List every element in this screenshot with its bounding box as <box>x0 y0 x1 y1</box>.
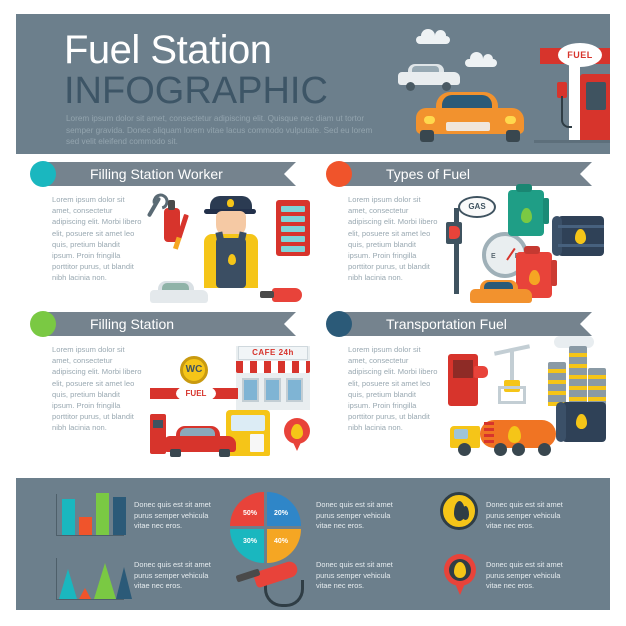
gauge-empty-label: E <box>491 253 496 260</box>
red-car-icon <box>164 424 236 456</box>
cloud-icon <box>416 36 450 44</box>
bar-chart-bar <box>62 499 75 535</box>
footer-item-text: Donec quis est sit amet purus semper veh… <box>134 560 226 592</box>
filling-station-illustration: CAFE 24h WC FUEL <box>150 340 312 458</box>
location-pin-icon <box>284 418 310 452</box>
cafe-building-icon: CAFE 24h <box>236 346 310 410</box>
section-title: Transportation Fuel <box>386 315 507 333</box>
area-chart-peak <box>59 569 77 599</box>
section-types-of-fuel: Types of Fuel Lorem ipsum dolor sit amet… <box>318 162 608 312</box>
wc-label: WC <box>183 359 205 381</box>
section-ribbon: Filling Station <box>44 312 296 336</box>
pie-slice: 20% <box>267 492 301 526</box>
section-title: Filling Station Worker <box>90 165 223 183</box>
fuel-sign-label: FUEL <box>558 43 602 67</box>
worker-illustration <box>150 190 312 308</box>
footer-item-text: Donec quis est sit amet purus semper veh… <box>316 500 408 532</box>
area-chart-peak <box>94 563 116 599</box>
header-description: Lorem ipsum dolor sit amet, consectetur … <box>66 113 386 148</box>
orange-car-icon <box>416 90 524 144</box>
red-pump-icon <box>448 354 478 406</box>
fuel-nozzle-icon <box>234 562 308 606</box>
gas-sign-label: GAS <box>460 198 494 216</box>
section-title: Filling Station <box>90 315 174 333</box>
orange-car-icon <box>470 278 532 306</box>
flame-badge-icon <box>440 492 478 530</box>
fuel-types-illustration: GAS E F <box>446 190 608 308</box>
gas-sign-icon: GAS <box>448 196 494 222</box>
pump-panel-icon <box>276 200 310 256</box>
bar-chart-bar <box>113 497 126 535</box>
extinguisher-nozzle-icon <box>168 200 175 210</box>
section-body-text: Lorem ipsum dolor sit amet, consectetur … <box>52 194 144 284</box>
section-filling-station: Filling Station Lorem ipsum dolor sit am… <box>22 312 312 462</box>
section-ribbon: Filling Station Worker <box>44 162 296 186</box>
area-chart-peak <box>116 567 132 599</box>
fuel-pump-station-icon: FUEL <box>530 30 608 142</box>
infographic-page: Fuel Station INFOGRAPHIC Lorem ipsum dol… <box>0 0 626 626</box>
fuel-nozzle-icon <box>449 226 460 239</box>
fuel-drop-pin-icon <box>444 554 476 598</box>
tanker-truck-icon <box>450 410 562 456</box>
pie-slice-label: 30% <box>243 538 257 545</box>
station-worker-icon <box>202 196 260 288</box>
fuel-sign-icon: FUEL <box>176 384 216 403</box>
blue-barrel-icon <box>558 216 604 256</box>
section-bullet-dot <box>30 311 56 337</box>
section-bullet-dot <box>326 161 352 187</box>
header-panel: Fuel Station INFOGRAPHIC Lorem ipsum dol… <box>16 14 610 154</box>
refinery-towers-icon <box>548 342 604 406</box>
section-body-text: Lorem ipsum dolor sit amet, consectetur … <box>348 344 440 434</box>
section-title: Types of Fuel <box>386 165 470 183</box>
header-illustration: FUEL <box>380 14 610 154</box>
section-body-text: Lorem ipsum dolor sit amet, consectetur … <box>52 344 144 434</box>
bar-chart-bar <box>79 517 92 535</box>
cloud-icon <box>465 59 497 67</box>
area-chart-icon <box>48 556 126 604</box>
white-car-icon <box>150 280 208 306</box>
green-jerrycan-icon <box>508 190 544 236</box>
fuel-sign-label: FUEL <box>176 384 216 403</box>
page-subtitle: INFOGRAPHIC <box>64 70 328 112</box>
section-body-text: Lorem ipsum dolor sit amet, consectetur … <box>348 194 440 284</box>
fuel-nozzle-icon <box>474 366 488 378</box>
footer-item-text: Donec quis est sit amet purus semper veh… <box>134 500 226 532</box>
pie-slice: 40% <box>267 529 301 563</box>
white-car-icon <box>398 62 460 88</box>
footer-item-text: Donec quis est sit amet purus semper veh… <box>486 560 578 592</box>
wrench-icon <box>147 196 161 217</box>
pie-slice: 50% <box>230 492 264 526</box>
oil-derrick-icon <box>492 346 536 406</box>
transportation-fuel-illustration <box>446 340 608 458</box>
area-chart-peak <box>79 588 91 599</box>
wc-badge-icon: WC <box>180 356 208 384</box>
section-transportation-fuel: Transportation Fuel Lorem ipsum dolor si… <box>318 312 608 462</box>
pie-chart-icon: 50% 20% 30% 40% <box>230 492 302 564</box>
bar-chart-bar <box>96 493 109 535</box>
pie-slice: 30% <box>230 529 264 563</box>
bar-chart-icon <box>48 492 126 540</box>
section-ribbon: Transportation Fuel <box>340 312 592 336</box>
footer-item-text: Donec quis est sit amet purus semper veh… <box>486 500 578 532</box>
pie-slice-label: 20% <box>274 510 288 517</box>
page-title: Fuel Station <box>64 28 271 72</box>
blue-barrel-icon <box>562 402 606 442</box>
fuel-nozzle-icon <box>272 288 302 302</box>
section-ribbon: Types of Fuel <box>340 162 592 186</box>
footer-panel: 50% 20% 30% 40% Donec quis est sit amet … <box>16 478 610 610</box>
pie-slice-label: 50% <box>243 510 257 517</box>
section-bullet-dot <box>326 311 352 337</box>
pie-slice-label: 40% <box>274 538 288 545</box>
section-bullet-dot <box>30 161 56 187</box>
footer-item-text: Donec quis est sit amet purus semper veh… <box>316 560 408 592</box>
cafe-sign-label: CAFE 24h <box>239 347 307 359</box>
section-filling-station-worker: Filling Station Worker Lorem ipsum dolor… <box>22 162 312 312</box>
